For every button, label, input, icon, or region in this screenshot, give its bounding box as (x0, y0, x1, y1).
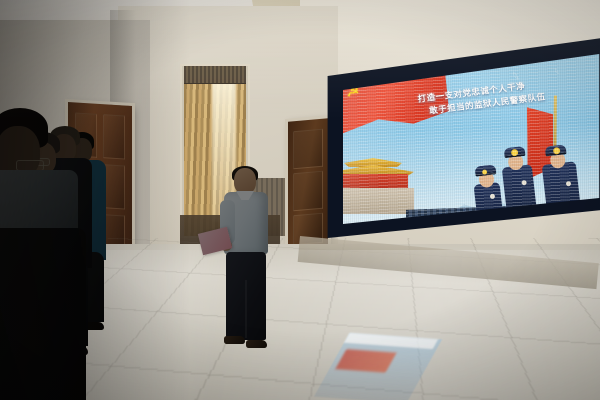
reflection-red-flag (335, 349, 396, 373)
speaker-person (214, 168, 276, 354)
attendee-jacket (0, 228, 86, 400)
curtain-pelmet (184, 66, 246, 84)
speaker-leg-seam (245, 280, 247, 338)
photo-scene: ☭ 𓆩 𓆩 𓆩 打造一支对党忠诚个人干净 敢于担当的监狱人民警 (0, 0, 600, 400)
speaker-head (234, 168, 256, 194)
door-panel (293, 171, 323, 212)
door-panel (293, 129, 323, 170)
led-display[interactable]: ☭ 𓆩 𓆩 𓆩 打造一支对党忠诚个人干净 敢于担当的监狱人民警 (322, 38, 600, 238)
speaker-shoe-left (224, 336, 245, 344)
speaker-shoe-right (246, 340, 267, 348)
attendee-front (0, 108, 94, 400)
